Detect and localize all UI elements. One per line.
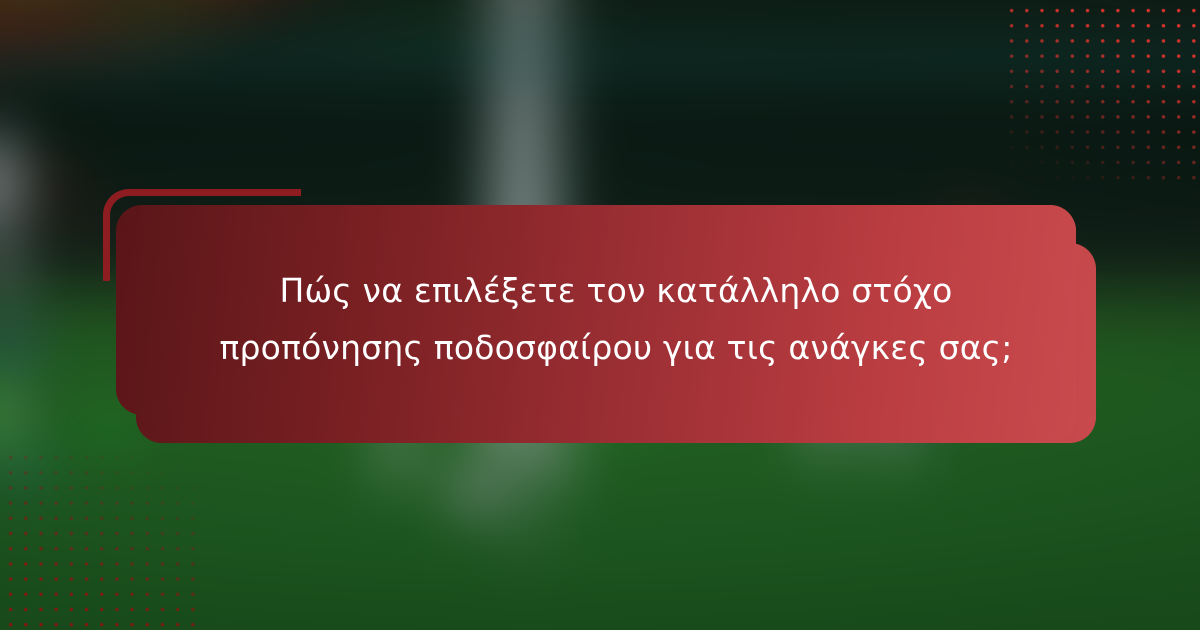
page-title: Πώς να επιλέξετε τον κατάλληλο στόχο προ… (136, 262, 1096, 376)
share-card-canvas: Πώς να επιλέξετε τον κατάλληλο στόχο προ… (0, 0, 1200, 630)
page-title-line-1: Πώς να επιλέξετε τον κατάλληλο στόχο (136, 262, 1096, 319)
page-title-line-2: προπόνησης ποδοσφαίρου για τις ανάγκες σ… (136, 319, 1096, 376)
halftone-dots-bottom-left-icon (0, 445, 200, 630)
halftone-dots-top-right-icon (1000, 0, 1200, 190)
